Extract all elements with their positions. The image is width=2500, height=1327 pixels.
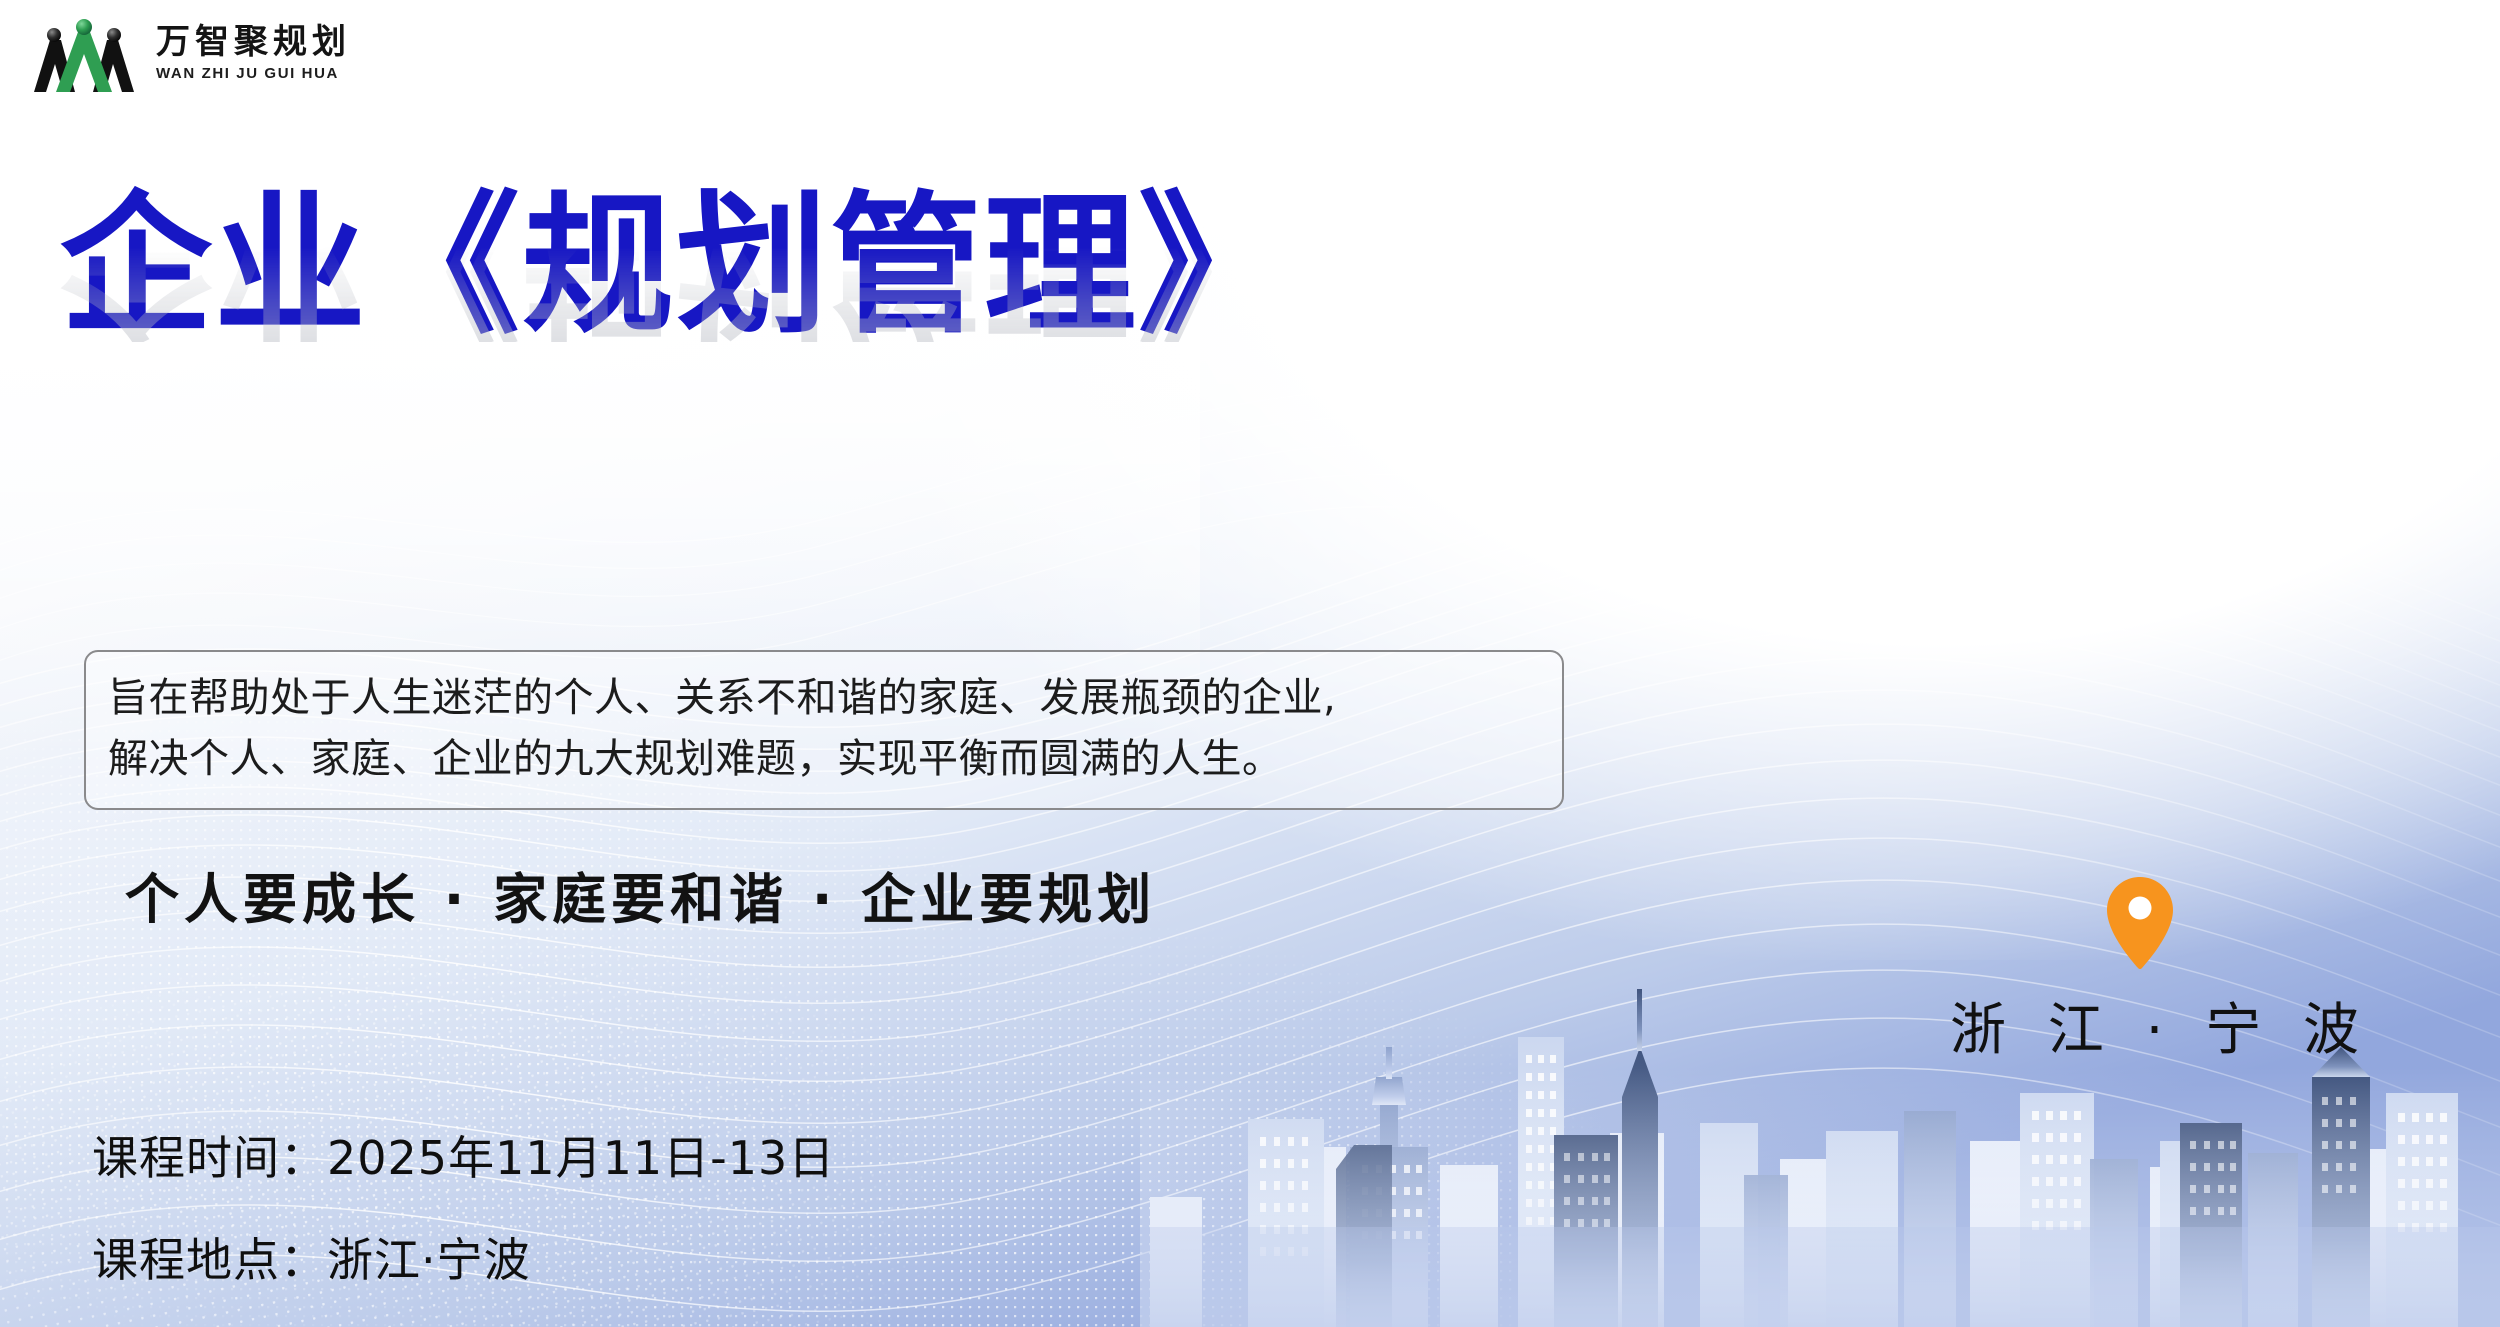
location-block: 浙 江 · 宁 波 <box>1950 875 2330 1066</box>
description-line-2: 解决个人、家庭、企业的九大规划难题，实现平衡而圆满的人生。 <box>108 729 1540 790</box>
poster-canvas: 万智聚规划 WAN ZHI JU GUI HUA 企业《规划管理》 企业《规划管… <box>0 0 2500 1327</box>
course-place: 课程地点：浙江·宁波 <box>92 1224 835 1290</box>
brand-name-pinyin: WAN ZHI JU GUI HUA <box>156 66 351 81</box>
headline-block: 企业《规划管理》 企业《规划管理》 <box>60 190 1760 446</box>
map-pin-icon <box>2104 875 2176 971</box>
three-people-logo-icon <box>28 14 140 92</box>
description-box: 旨在帮助处于人生迷茫的个人、关系不和谐的家庭、发展瓶颈的企业, 解决个人、家庭、… <box>84 650 1564 810</box>
tagline: 个人要成长 · 家庭要和谐 · 企业要规划 <box>125 855 1156 934</box>
location-city: 浙 江 · 宁 波 <box>1950 985 2330 1066</box>
top-right-white-wash <box>800 0 2500 960</box>
page-title-reflection: 企业《规划管理》 <box>60 238 1760 342</box>
course-meta: 课程时间：2025年11月11日-13日 课程地点：浙江·宁波 <box>92 1122 835 1290</box>
description-line-1: 旨在帮助处于人生迷茫的个人、关系不和谐的家庭、发展瓶颈的企业, <box>108 668 1540 729</box>
brand-logo-text: 万智聚规划 WAN ZHI JU GUI HUA <box>156 25 351 81</box>
brand-logo[interactable]: 万智聚规划 WAN ZHI JU GUI HUA <box>28 14 351 92</box>
course-time: 课程时间：2025年11月11日-13日 <box>92 1122 835 1188</box>
brand-name-cn: 万智聚规划 <box>156 25 351 59</box>
